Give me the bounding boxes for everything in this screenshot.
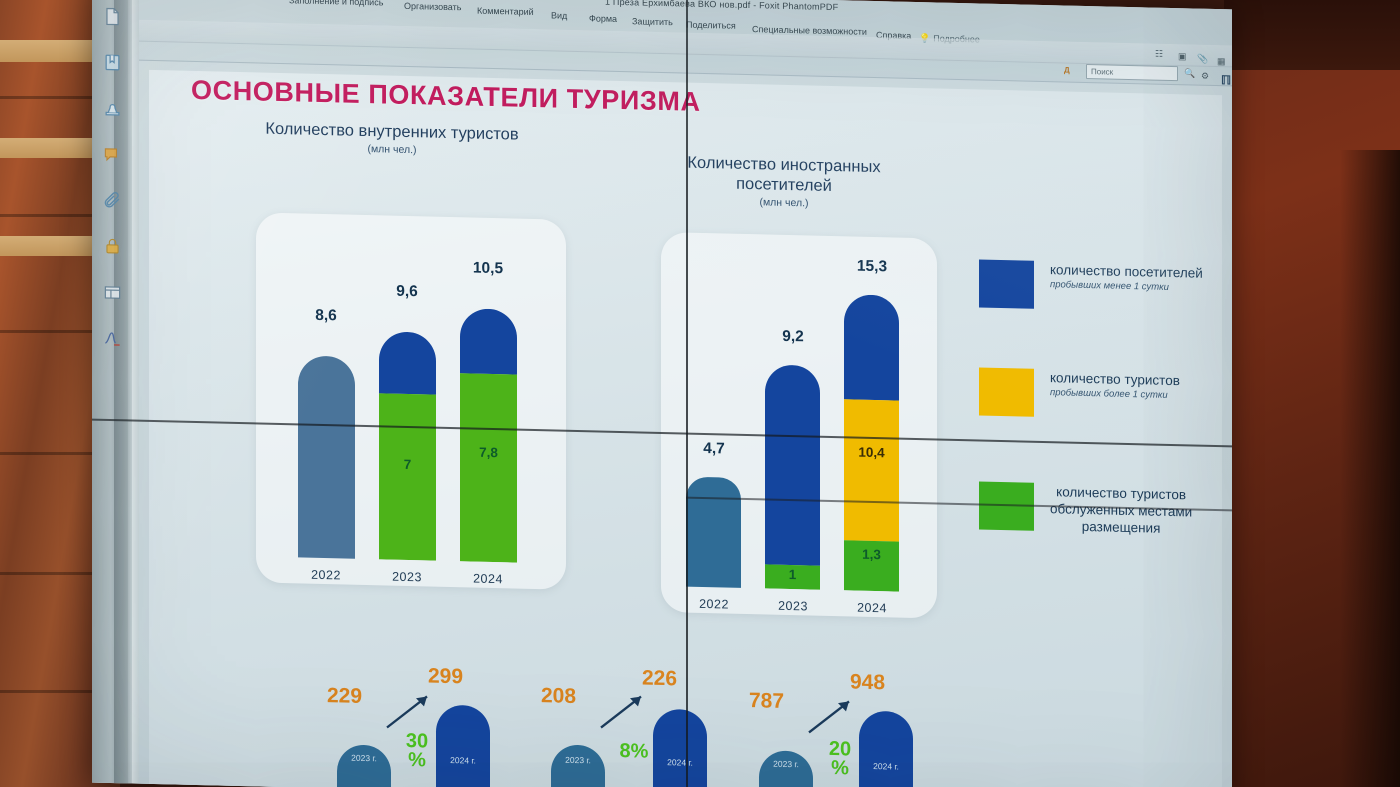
legend-note-tourists: пробывших более 1 сутки	[1050, 386, 1180, 402]
chart1-heading: Количество внутренних туристов (млн чел.…	[252, 118, 532, 159]
chart2-xlabel-2022: 2022	[679, 596, 749, 612]
chart2-xlabel-2023: 2023	[758, 598, 828, 614]
chart1-bar-total-2024: 10,5	[453, 259, 523, 279]
chart2-seg-green-2023-label: 1	[765, 566, 820, 582]
chart2-heading: Количество иностранных посетителей (млн …	[639, 151, 929, 212]
legend-item-visitors: количество посетителей пробывших менее 1…	[979, 259, 1203, 312]
kpi2-bar-2023: 2023 г.	[551, 744, 605, 787]
kpi1-old-value: 229	[327, 684, 362, 709]
video-wall-display: 1 Преза Ерхимбаева ВКО нов.pdf - Foxit P…	[92, 0, 1232, 787]
chart2-xlabel-2024: 2024	[837, 600, 907, 616]
kpi3-bar-2024: 2024 г.	[859, 711, 913, 787]
kpi2-new-value: 226	[642, 667, 677, 692]
kpi3-new-value: 948	[850, 670, 885, 695]
layout-pages-icon[interactable]	[92, 269, 132, 316]
chart1-seg-green-2023-label: 7	[379, 456, 436, 472]
kpi3-old-value: 787	[749, 689, 784, 714]
magnifier-icon[interactable]: 🔍	[1184, 68, 1195, 79]
chart2-seg-yellow-2024-label: 10,4	[844, 444, 899, 460]
kpi1-bar-2024-label: 2024 г.	[450, 755, 476, 787]
kpi3-bar-2024-label: 2024 г.	[873, 761, 899, 787]
kpi2-growth-arrow	[597, 689, 649, 732]
bookmarks-icon[interactable]	[92, 39, 132, 86]
kpi1-bar-2023: 2023 г.	[337, 744, 391, 787]
chart1-bar-2024: 7,8	[460, 308, 517, 562]
legend-item-tourists: количество туристов пробывших более 1 су…	[979, 367, 1180, 420]
chart1-xlabel-2023: 2023	[372, 569, 442, 585]
chart2-bar-total-2024: 15,3	[837, 257, 907, 277]
kpi1-bar-2024: 2024 г.	[436, 705, 490, 787]
chart1-bar-2023: 7	[379, 331, 436, 560]
menu-item-organize[interactable]: Организовать	[404, 1, 461, 12]
kpi-group-2: 208 226 8% 2023 г. 2024 г	[541, 664, 771, 787]
chart-legend: количество посетителей пробывших менее 1…	[979, 259, 1219, 595]
menu-item-share[interactable]: Поделиться	[686, 20, 736, 31]
menu-item-form[interactable]: Форма	[589, 13, 617, 24]
chart1-seg-green-2023: 7	[379, 393, 436, 561]
kpi1-new-value: 299	[428, 664, 463, 689]
chart2-title: Количество иностранных посетителей	[639, 151, 929, 198]
security-lock-icon[interactable]	[92, 223, 132, 270]
window-icon[interactable]: ▣	[1178, 51, 1187, 62]
signature-icon[interactable]	[92, 315, 132, 362]
chart2-bar-2023: 1	[765, 364, 820, 589]
menu-item-fill-sign[interactable]: Заполнение и подпись	[289, 0, 383, 7]
chart2-seg-green-2024: 1,3	[844, 540, 899, 592]
chart1-xlabel-2022: 2022	[291, 567, 361, 583]
kpi3-bar-2023: 2023 г.	[759, 750, 813, 787]
chart2-bar-total-2023: 9,2	[758, 327, 828, 347]
kpi3-bar-2023-label: 2023 г.	[773, 759, 799, 787]
room-scene: 1 Преза Ерхимбаева ВКО нов.pdf - Foxit P…	[0, 0, 1400, 787]
comment-icon[interactable]	[92, 131, 132, 178]
kpi1-bar-2023-label: 2023 г.	[351, 753, 377, 787]
chart2-seg-green-2024-label: 1,3	[844, 546, 899, 562]
page-title: ОСНОВНЫЕ ПОКАЗАТЕЛИ ТУРИЗМА	[191, 75, 701, 118]
kpi2-bar-2024: 2024 г.	[653, 709, 707, 787]
chart1-bar-total-2023: 9,6	[372, 282, 442, 302]
kpi3-percent: 20 %	[825, 740, 855, 779]
chart2-seg-blue-2024	[844, 294, 899, 400]
kpi1-percent: 30 %	[402, 732, 432, 771]
grid-icon[interactable]: ☷	[1155, 49, 1163, 60]
menu-item-view[interactable]: Вид	[551, 10, 567, 20]
pdf-tool-rail[interactable]	[92, 0, 132, 374]
chart2-plot: 4,7 2022 9,2 1 2023 15,3	[661, 232, 937, 619]
legend-swatch-yellow	[979, 367, 1034, 416]
chart1-seg-green-2024: 7,8	[460, 373, 517, 562]
kpi1-percent-unit: %	[402, 751, 432, 771]
chart1-seg-blue-2024	[460, 308, 517, 374]
kpi2-bar-2023-label: 2023 г.	[565, 755, 591, 787]
search-input[interactable]: Поиск	[1086, 64, 1178, 81]
legend-label-accommodated-line2: обслуженных местами	[1050, 500, 1192, 520]
chart1-xlabel-2024: 2024	[453, 571, 523, 587]
stamp-icon[interactable]	[92, 85, 132, 132]
panel-icon[interactable]: ▦	[1217, 56, 1226, 67]
kpi1-growth-arrow	[383, 689, 435, 732]
display-bezel-edge	[132, 0, 139, 784]
menu-item-comment[interactable]: Комментарий	[477, 6, 534, 17]
videowall-seam-vertical	[686, 0, 688, 787]
wall-right	[1224, 0, 1400, 787]
chart1-bar-2022	[298, 355, 355, 558]
chart1-seg-green-2024-label: 7,8	[460, 445, 517, 461]
kpi2-percent: 8%	[613, 742, 655, 762]
legend-swatch-blue	[979, 259, 1034, 308]
menu-item-protect[interactable]: Защитить	[632, 16, 673, 27]
kpi2-percent-value: 8%	[613, 742, 655, 762]
legend-label-accommodated-line3: размещения	[1050, 517, 1192, 537]
kpi3-growth-arrow	[805, 694, 857, 737]
chart2-bar-total-2022: 4,7	[679, 439, 749, 459]
chart2-bar-2022	[686, 477, 741, 588]
chart2-bar-2024: 10,4 1,3	[844, 294, 899, 591]
chart2-seg-blue-2023	[765, 364, 820, 565]
chart1-plot: 8,6 2022 9,6 7 2023 10,5	[256, 212, 566, 589]
kpi2-old-value: 208	[541, 684, 576, 709]
kpi3-percent-unit: %	[825, 759, 855, 779]
paperclip-icon[interactable]: 📎	[1197, 54, 1208, 65]
chart2-seg-yellow-2024: 10,4	[844, 399, 899, 541]
chart1-bar-total-2022: 8,6	[291, 306, 361, 326]
settings-icon[interactable]: ⚙	[1201, 71, 1209, 82]
kpi2-bar-2024-label: 2024 г.	[667, 757, 693, 787]
chart1-seg-blue-2023	[379, 331, 436, 394]
kpi-group-3: 787 948 20 % 2023 г. 2024	[749, 668, 979, 787]
attachment-icon[interactable]	[92, 177, 132, 224]
kpi-group-1: 229 299 30 % 2023 г. 2024	[327, 662, 557, 787]
chart2-seg-green-2023: 1	[765, 564, 820, 590]
search-prefix-label: Д	[1064, 65, 1070, 74]
page-thumbnails-icon[interactable]	[92, 0, 132, 40]
